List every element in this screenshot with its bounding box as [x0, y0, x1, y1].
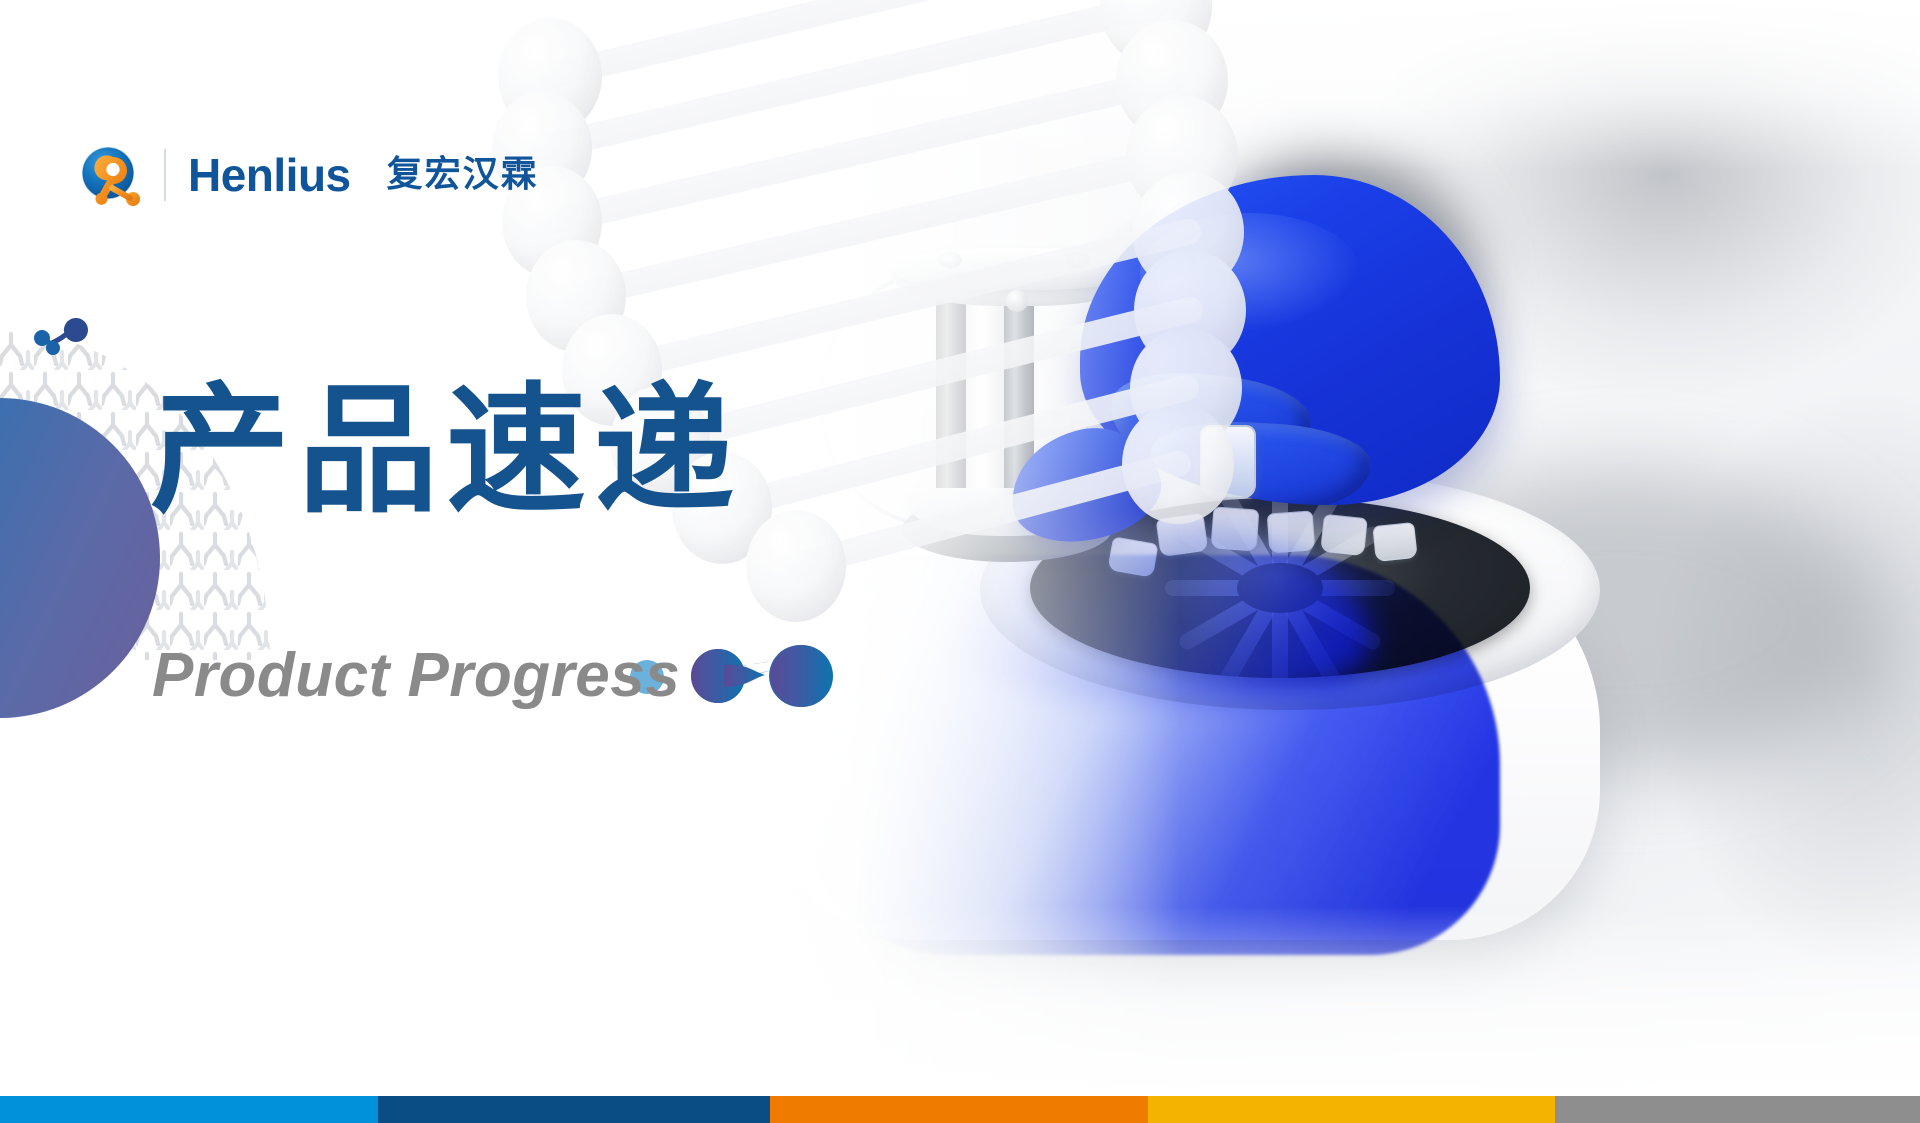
sample-tube — [1372, 522, 1418, 562]
title-slide: Henlius 复宏汉霖 产品速递 Product Progress — [0, 0, 1920, 1123]
henlius-logo[interactable]: Henlius 复宏汉霖 — [78, 140, 539, 210]
henlius-molecule-mark — [78, 143, 142, 207]
photo-top-fade — [760, 0, 1920, 170]
segment-amber — [1148, 1096, 1555, 1123]
photo-bottom-fade — [760, 906, 1920, 1096]
segment-dark-blue — [378, 1096, 770, 1123]
page-subtitle: Product Progress — [152, 645, 680, 707]
held-sample-tube — [1200, 425, 1256, 499]
lab-centrifuge-photo — [760, 0, 1920, 1096]
brand-color-bar — [0, 1096, 1920, 1123]
logo-wordmark: Henlius — [188, 152, 351, 198]
logo-chinese-name: 复宏汉霖 — [387, 157, 539, 193]
page-title: 产品速递 — [150, 378, 742, 525]
molecule-icon-small — [28, 310, 100, 366]
glove-finger — [1148, 417, 1372, 505]
segment-gray — [1555, 1096, 1920, 1123]
logo-divider — [164, 149, 166, 201]
segment-orange — [770, 1096, 1148, 1123]
segment-light-blue — [0, 1096, 378, 1123]
sample-tube — [1320, 514, 1368, 556]
molecule-icon-large — [690, 645, 840, 707]
